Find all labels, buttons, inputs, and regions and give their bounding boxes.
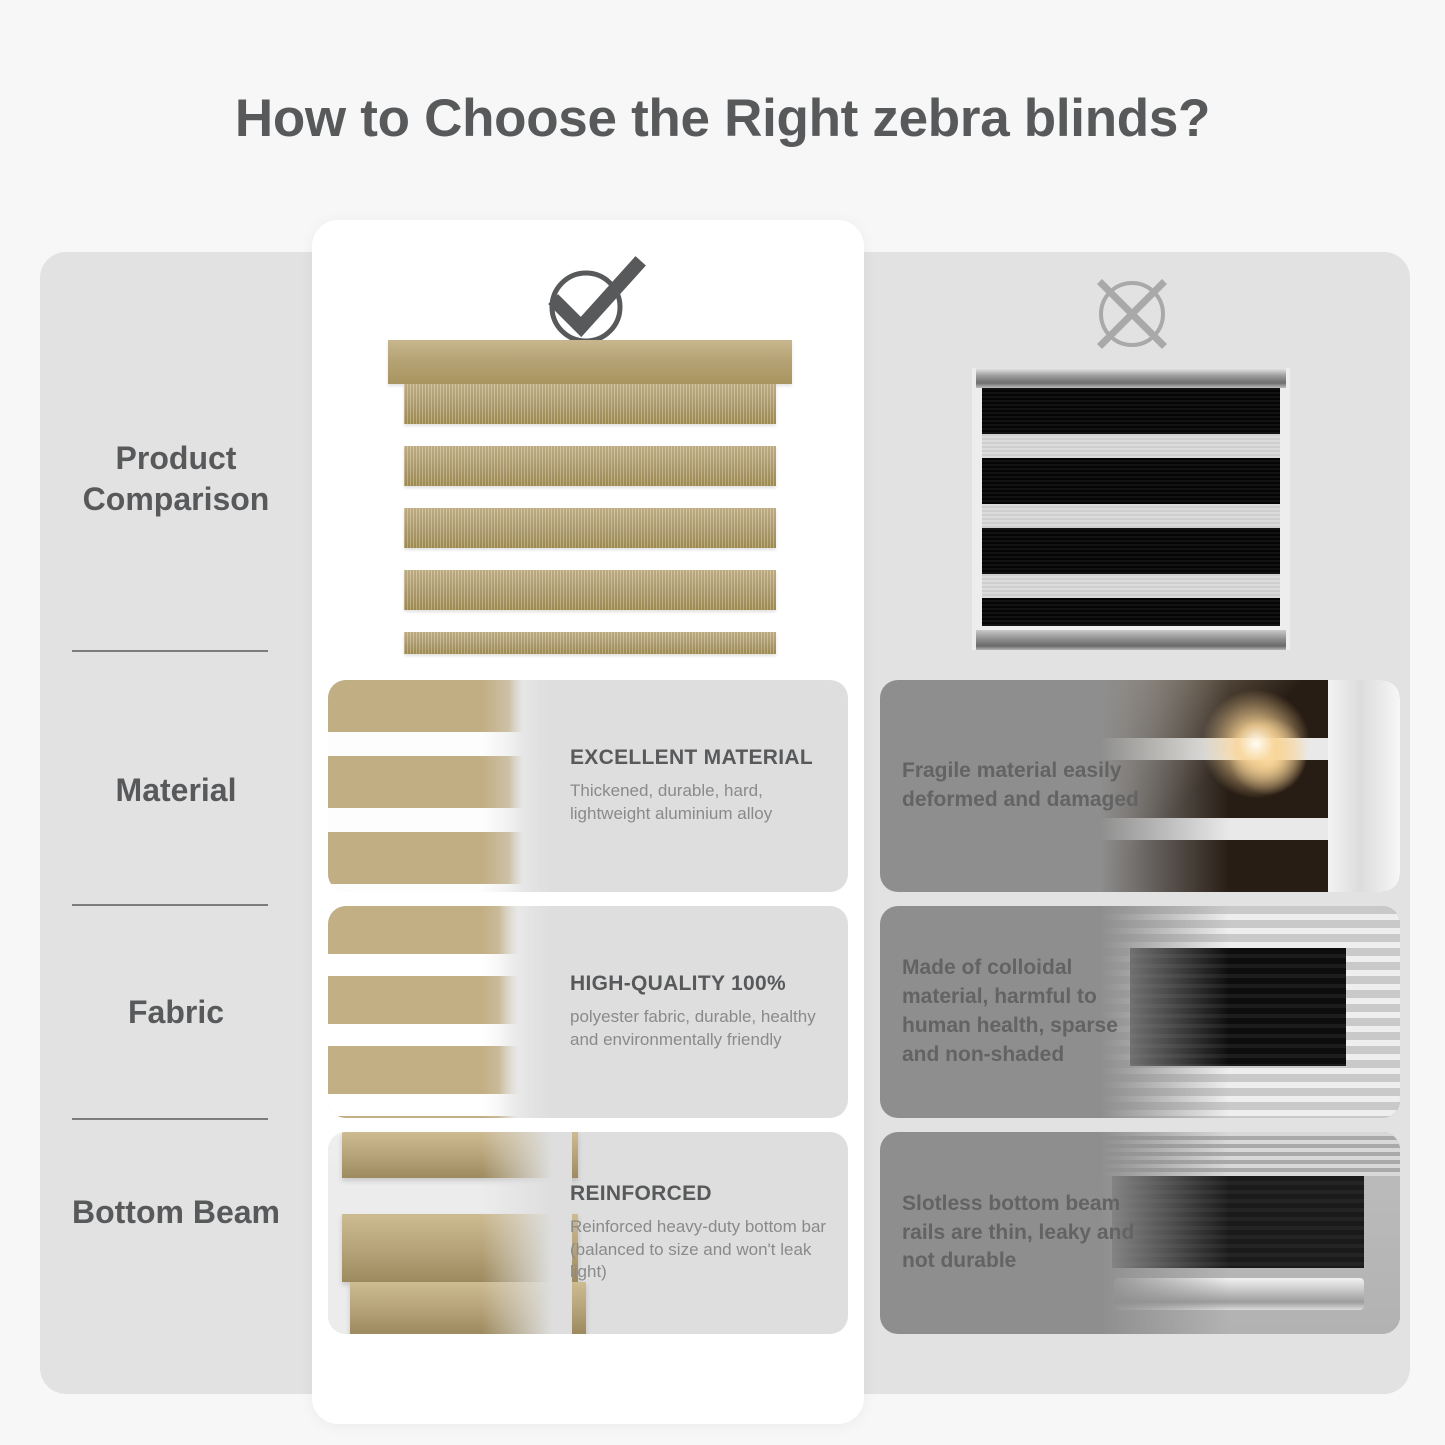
feature-text-block: HIGH-QUALITY 100% polyester fabric, dura… <box>570 906 838 1118</box>
feature-body: Slotless bottom beam rails are thin, lea… <box>902 1190 1152 1277</box>
blind-bottom-bar <box>404 632 776 654</box>
black-zebra-blind-image <box>972 368 1290 650</box>
window-frame <box>1328 680 1400 892</box>
feature-heading: EXCELLENT MATERIAL <box>570 746 838 770</box>
row-divider <box>72 904 268 906</box>
good-feature-card-material: EXCELLENT MATERIAL Thickened, durable, h… <box>328 680 848 892</box>
feature-body: Reinforced heavy-duty bottom bar (balanc… <box>570 1216 838 1285</box>
row-divider <box>72 1118 268 1120</box>
feature-heading: HIGH-QUALITY 100% <box>570 972 838 996</box>
feature-text-block: REINFORCED Reinforced heavy-duty bottom … <box>570 1132 838 1334</box>
row-label-fabric: Fabric <box>40 992 312 1033</box>
good-feature-card-bottom-beam: REINFORCED Reinforced heavy-duty bottom … <box>328 1132 848 1334</box>
blind-slat <box>404 508 776 548</box>
row-label-column: Product Comparison Material Fabric Botto… <box>40 252 312 1394</box>
bad-feature-card-bottom-beam: Slotless bottom beam rails are thin, lea… <box>880 1132 1400 1334</box>
blind-slat <box>404 384 776 424</box>
feature-body: Fragile material easily deformed and dam… <box>902 757 1152 815</box>
feature-body: Made of colloidal material, harmful to h… <box>902 954 1152 1070</box>
feature-text-block: Slotless bottom beam rails are thin, lea… <box>902 1132 1152 1334</box>
page-title: How to Choose the Right zebra blinds? <box>0 88 1445 149</box>
blind-slat <box>404 570 776 610</box>
good-feature-card-fabric: HIGH-QUALITY 100% polyester fabric, dura… <box>328 906 848 1118</box>
blind-bottom-bar <box>976 630 1286 650</box>
tan-zebra-blind-image <box>388 340 792 670</box>
bad-feature-card-material: Fragile material easily deformed and dam… <box>880 680 1400 892</box>
image-fade-overlay <box>482 1132 572 1334</box>
blind-fabric <box>982 388 1280 626</box>
image-fade-overlay <box>482 680 572 892</box>
row-label-material: Material <box>40 770 312 811</box>
row-divider <box>72 650 268 652</box>
check-circle-icon <box>536 252 646 352</box>
feature-body: Thickened, durable, hard, lightweight al… <box>570 780 838 826</box>
image-fade-overlay <box>482 906 572 1118</box>
tan-blind-window-frame-image <box>328 680 572 892</box>
bad-feature-card-fabric: Made of colloidal material, harmful to h… <box>880 906 1400 1118</box>
blind-slat <box>404 446 776 486</box>
feature-text-block: EXCELLENT MATERIAL Thickened, durable, h… <box>570 680 838 892</box>
feature-text-block: Made of colloidal material, harmful to h… <box>902 906 1152 1118</box>
row-label-product-comparison: Product Comparison <box>40 438 312 520</box>
tan-blind-fabric-closeup-image <box>328 906 572 1118</box>
row-label-bottom-beam: Bottom Beam <box>40 1192 312 1233</box>
feature-body: polyester fabric, durable, healthy and e… <box>570 1006 838 1052</box>
feature-heading: REINFORCED <box>570 1182 838 1206</box>
blind-headrail <box>388 340 792 384</box>
blind-headrail <box>976 368 1286 388</box>
feature-text-block: Fragile material easily deformed and dam… <box>902 680 1152 892</box>
cross-circle-icon <box>1082 268 1182 360</box>
reinforced-bottom-bar-image <box>328 1132 572 1334</box>
